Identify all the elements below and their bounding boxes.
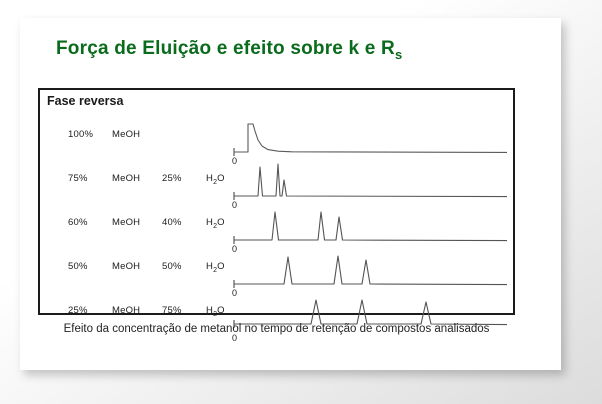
trace-plot: 0 [232, 250, 509, 294]
chromatogram-row: 50% MeOH 50% H2O 0 [40, 250, 513, 294]
row-percent-a: 100% [68, 129, 102, 140]
row-solvent-a: MeOH [112, 305, 152, 316]
figure-caption: Efeito da concentração de metanol no tem… [38, 321, 515, 337]
row-percent-b: 25% [162, 173, 196, 184]
row-percent-b: 50% [162, 261, 196, 272]
page-title-text: Força de Eluição e efeito sobre k e R [56, 38, 395, 59]
row-solvent-a: MeOH [112, 129, 152, 140]
row-percent-a: 75% [68, 173, 102, 184]
row-percent-b: 75% [162, 305, 196, 316]
figure-label: Fase reversa [47, 94, 123, 108]
chromatogram-row: 75% MeOH 25% H2O 0 [40, 162, 513, 206]
row-percent-a: 50% [68, 261, 102, 272]
page-title: Força de Eluição e efeito sobre k e Rs [56, 38, 402, 62]
trace-plot: 0 [232, 206, 509, 250]
row-percent-a: 60% [68, 217, 102, 228]
page-title-subscript: s [395, 47, 402, 62]
trace-plot: 0 [232, 118, 509, 162]
row-percent-b: 40% [162, 217, 196, 228]
row-solvent-a: MeOH [112, 173, 152, 184]
chromatogram-figure: Fase reversa 100% MeOH 0 75% MeOH 25% H2… [38, 88, 515, 315]
row-solvent-a: MeOH [112, 217, 152, 228]
row-solvent-a: MeOH [112, 261, 152, 272]
chromatogram-row: 100% MeOH 0 [40, 118, 513, 162]
row-percent-a: 25% [68, 305, 102, 316]
chromatogram-row: 60% MeOH 40% H2O 0 [40, 206, 513, 250]
trace-plot: 0 [232, 162, 509, 206]
slide-card: Força de Eluição e efeito sobre k e Rs F… [20, 18, 561, 370]
